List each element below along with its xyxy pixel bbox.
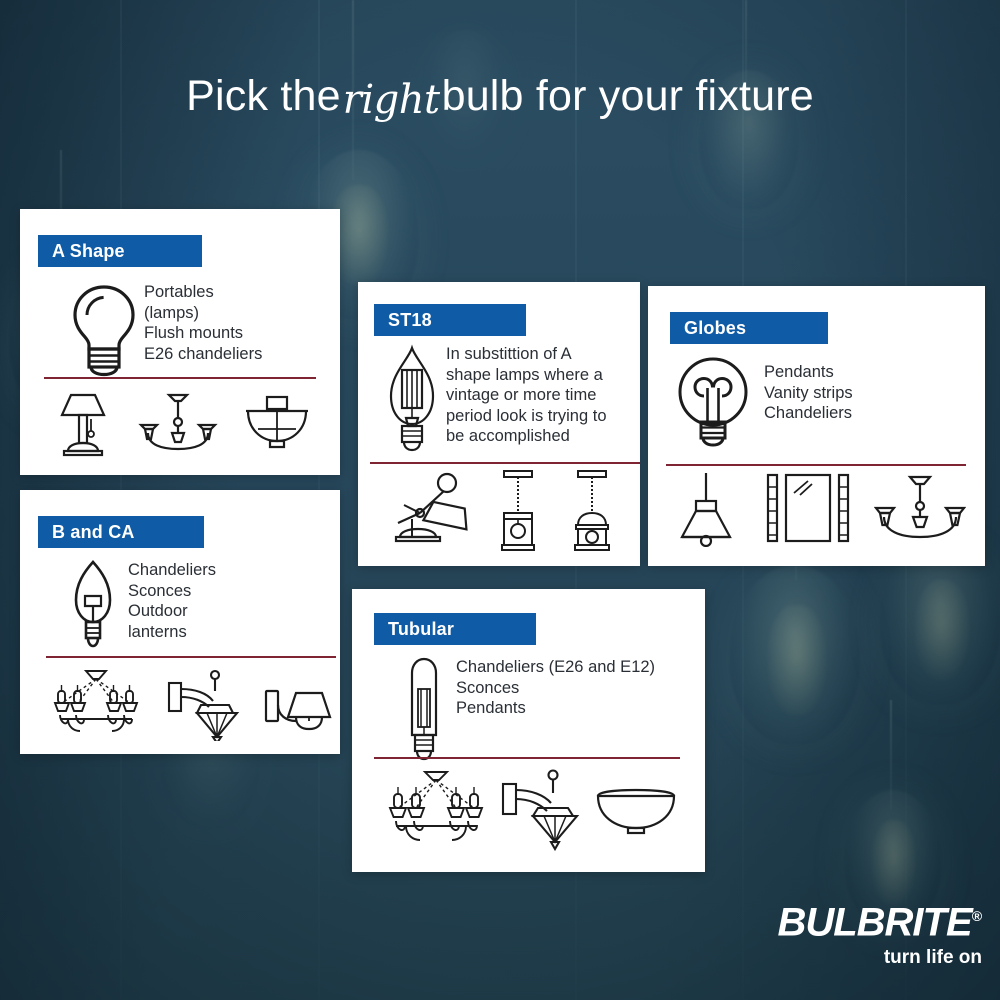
card-title-label: A Shape xyxy=(52,241,125,262)
caged-pendant-icon xyxy=(490,469,546,556)
outdoor-lantern-sconce-icon xyxy=(163,665,243,746)
chandelier-icon xyxy=(874,471,966,552)
vanity-mirror-strip-icon xyxy=(760,471,856,552)
card-description-b-and-ca: Chandeliers Sconces Outdoor lanterns xyxy=(128,560,328,642)
card-divider xyxy=(370,462,640,464)
desk-task-lamp-icon xyxy=(384,469,472,556)
brand-tagline: turn life on xyxy=(777,946,982,970)
card-title-label: Tubular xyxy=(388,619,454,640)
card-title-label: Globes xyxy=(684,318,746,339)
candle-bulb-icon xyxy=(62,558,124,661)
page-title: Pick therightbulb for your fixture xyxy=(0,72,1000,121)
card-divider xyxy=(374,757,680,759)
fixture-icon-row-b-and-ca xyxy=(46,670,336,746)
card-title-label: ST18 xyxy=(388,310,432,331)
table-lamp-icon xyxy=(50,389,116,462)
brand-wordmark-text: BULBRITE xyxy=(777,900,971,944)
fixture-icon-row-globes xyxy=(670,476,966,552)
cone-pendant-icon xyxy=(670,471,742,552)
card-globes[interactable]: Globes Pendants Vanity strips Chandelier… xyxy=(648,286,985,566)
st18-edison-bulb-icon xyxy=(378,344,446,461)
card-description-tubular: Chandeliers (E26 and E12) Sconces Pendan… xyxy=(456,657,696,719)
card-title-badge-globes: Globes xyxy=(670,312,828,344)
card-b-and-ca[interactable]: B and CA Chandeliers Sconces Outdoor lan… xyxy=(20,490,340,754)
card-description-st18: In substittion of A shape lamps where a … xyxy=(446,344,630,447)
fixture-icon-row-st18 xyxy=(384,474,620,556)
fixture-icon-row-tubular xyxy=(382,771,682,857)
card-tubular[interactable]: Tubular Chandeliers (E26 and E12) Sconce… xyxy=(352,589,705,872)
brand-wordmark: BULBRITE® xyxy=(777,896,982,942)
card-title-badge-st18: ST18 xyxy=(374,304,526,336)
card-title-badge-a-shape: A Shape xyxy=(38,235,202,267)
page-title-script-word: right xyxy=(341,77,442,123)
card-description-globes: Pendants Vanity strips Chandeliers xyxy=(764,362,964,424)
card-st18[interactable]: ST18 In substittion of A shape lamps whe… xyxy=(358,282,640,566)
page-title-before: Pick the xyxy=(186,72,341,120)
card-title-badge-b-and-ca: B and CA xyxy=(38,516,204,548)
card-a-shape[interactable]: A Shape Portables (lamps) Flush mounts E… xyxy=(20,209,340,475)
page-title-after: bulb for your fixture xyxy=(442,72,814,120)
lantern-pendant-icon xyxy=(564,469,620,556)
outdoor-lantern-sconce-icon xyxy=(497,766,583,857)
flush-mount-icon xyxy=(240,389,314,462)
wall-sconce-shade-icon xyxy=(260,665,336,746)
chandelier-icon xyxy=(136,389,220,462)
fixture-icon-row-a-shape xyxy=(50,394,314,462)
card-divider xyxy=(666,464,966,466)
registered-trademark-icon: ® xyxy=(972,908,982,924)
multi-arm-chandelier-icon xyxy=(46,665,146,746)
brand-logo: BULBRITE® turn life on xyxy=(777,896,982,970)
a-shape-bulb-icon xyxy=(58,281,150,382)
multi-arm-chandelier-icon xyxy=(382,766,490,857)
dome-flush-mount-icon xyxy=(590,766,682,857)
globe-bulb-icon xyxy=(670,352,756,457)
card-title-label: B and CA xyxy=(52,522,135,543)
card-title-badge-tubular: Tubular xyxy=(374,613,536,645)
tubular-bulb-icon xyxy=(396,651,452,768)
card-description-a-shape: Portables (lamps) Flush mounts E26 chand… xyxy=(144,282,334,364)
card-divider xyxy=(46,656,336,658)
card-divider xyxy=(44,377,316,379)
